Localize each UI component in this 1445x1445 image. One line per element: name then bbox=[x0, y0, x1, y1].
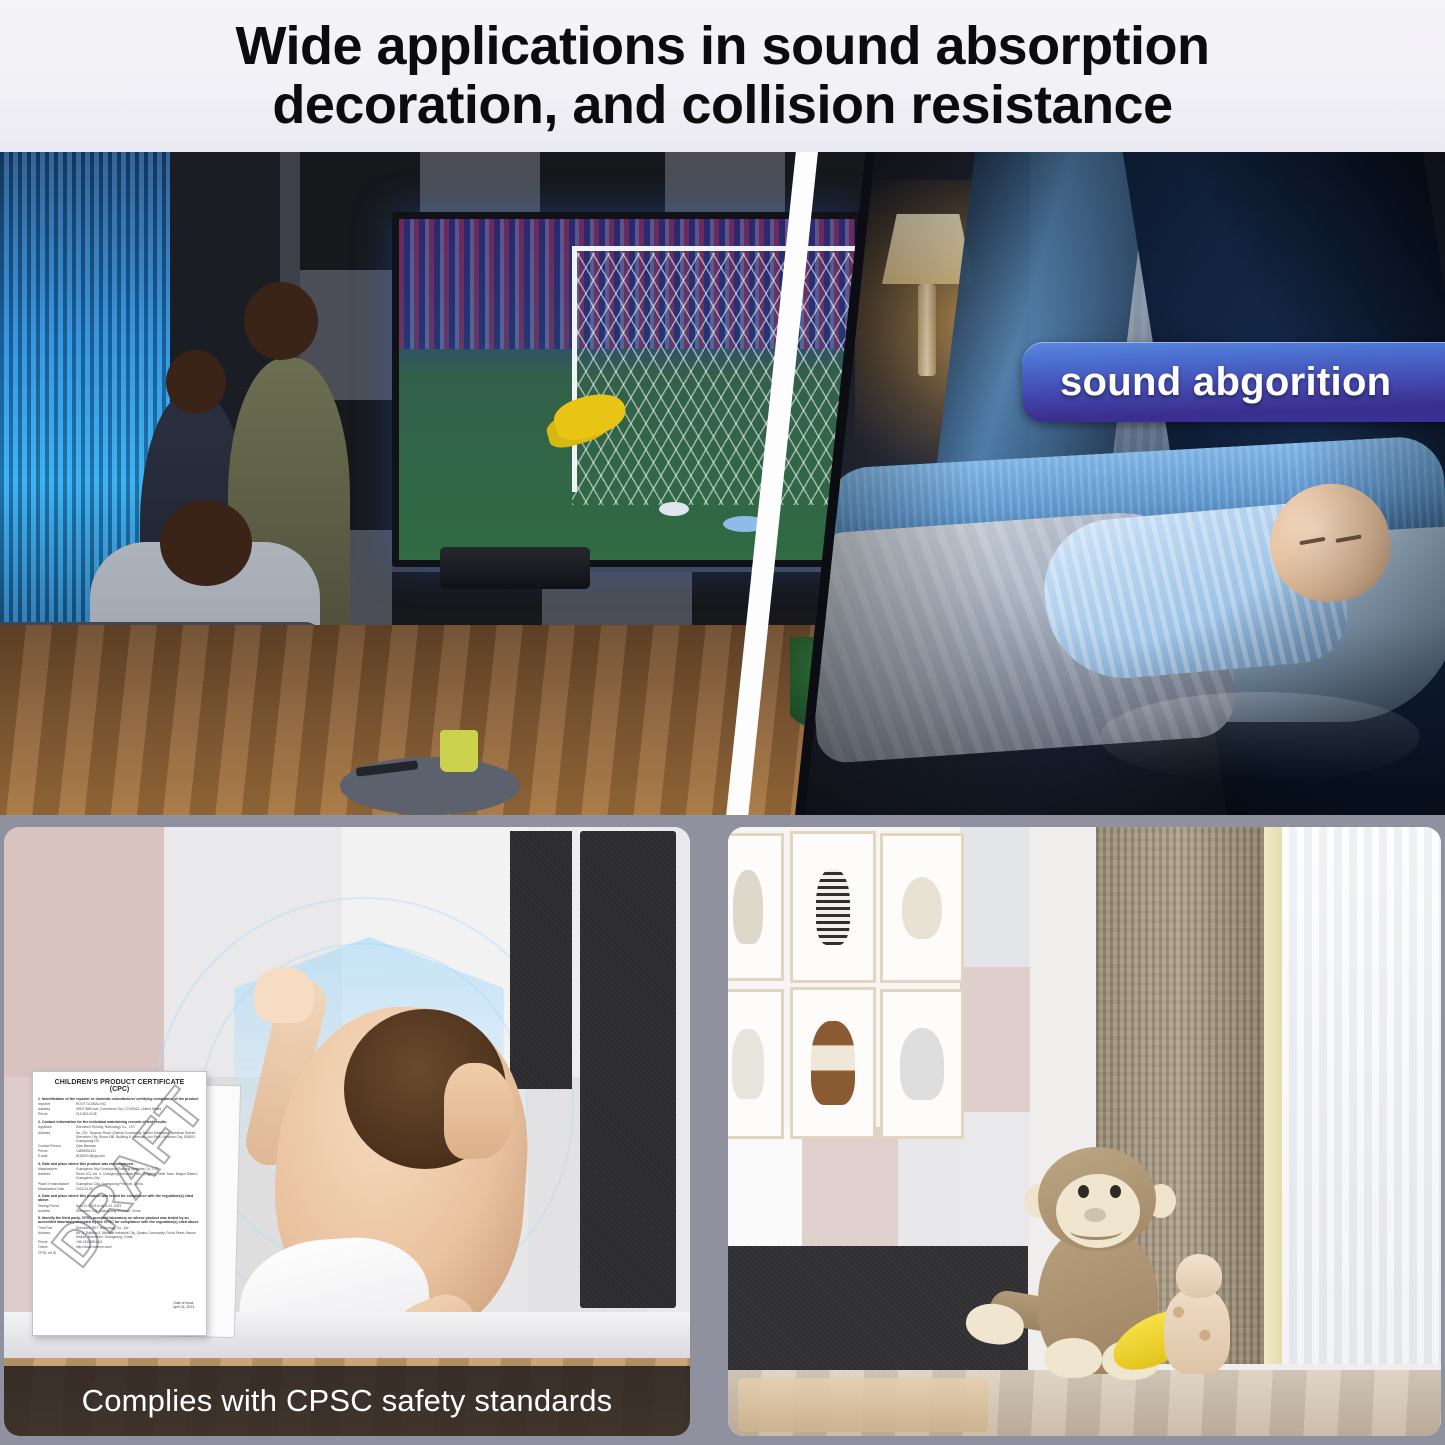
monkey-mouth bbox=[1070, 1222, 1122, 1240]
rabbit-icon bbox=[733, 870, 763, 944]
wall-tile bbox=[4, 827, 164, 1077]
baby-face bbox=[444, 1063, 514, 1159]
panel-ornament bbox=[728, 827, 1441, 1436]
page-title: Wide applications in sound absorption de… bbox=[93, 17, 1353, 136]
coffee-mug bbox=[440, 730, 478, 772]
brown-bear-icon bbox=[811, 1021, 855, 1105]
stuffed-giraffe-head bbox=[1176, 1254, 1222, 1298]
person-head bbox=[166, 350, 226, 414]
certificate-issue-date: Date of Issue April 24, 2023 bbox=[173, 1301, 194, 1309]
wall-tile bbox=[802, 1127, 898, 1247]
person-head bbox=[244, 282, 318, 360]
monkey-hand-right bbox=[1044, 1338, 1102, 1378]
badge-sound-absorption-label: sound abgorition bbox=[1060, 360, 1391, 405]
dark-acoustic-panel bbox=[580, 831, 676, 1308]
title-line-2: decoration, and collision resistance bbox=[93, 76, 1353, 135]
wall-tile bbox=[728, 1127, 802, 1247]
wall-trim bbox=[1264, 827, 1282, 1364]
title-line-1: Wide applications in sound absorption bbox=[93, 17, 1353, 76]
person-head bbox=[160, 500, 252, 586]
badge-sound-absorption[interactable]: sound abgorition bbox=[1022, 342, 1445, 422]
art-frame-elephant bbox=[880, 989, 964, 1139]
area-rug bbox=[738, 1378, 988, 1432]
dark-acoustic-panel bbox=[510, 831, 572, 1089]
nursery-scene bbox=[800, 152, 1445, 815]
product-feature-image: Wide applications in sound absorption de… bbox=[0, 0, 1445, 1445]
certificate-front-page: CHILDREN'S PRODUCT CERTIFICATE (CPC) 1. … bbox=[32, 1071, 207, 1336]
tv-player-ground bbox=[659, 502, 689, 516]
panel-nursery bbox=[800, 152, 1445, 815]
collision-proof-scene: CHILDREN'S PRODUCT CERTIFICATE (CPC) 1. … bbox=[4, 827, 690, 1436]
projector bbox=[440, 547, 590, 589]
monkey-eye-right bbox=[1110, 1185, 1121, 1198]
tv-goalpost bbox=[572, 246, 577, 492]
cpsc-caption-text: Complies with CPSC safety standards bbox=[82, 1383, 613, 1419]
wall-tile bbox=[960, 827, 1030, 967]
ornament-scene bbox=[728, 827, 1441, 1436]
art-frame-bear-white bbox=[728, 989, 784, 1139]
sheer-window-curtain bbox=[1282, 827, 1441, 1364]
monkey-nose bbox=[1084, 1208, 1106, 1222]
tv-crossbar bbox=[572, 246, 855, 251]
monkey-eye-left bbox=[1078, 1185, 1089, 1198]
top-panel-row: sound abgorition bbox=[0, 152, 1445, 815]
baby-hand bbox=[254, 967, 314, 1023]
art-frame-owl bbox=[880, 833, 964, 983]
bottom-panel-row: CHILDREN'S PRODUCT CERTIFICATE (CPC) 1. … bbox=[0, 818, 1445, 1445]
art-frame-bear-brown bbox=[790, 987, 876, 1139]
art-frame-rabbit bbox=[728, 833, 784, 981]
header-banner: Wide applications in sound absorption de… bbox=[0, 0, 1445, 152]
panel-collision-proof: CHILDREN'S PRODUCT CERTIFICATE (CPC) 1. … bbox=[4, 827, 690, 1436]
stuffed-giraffe-body bbox=[1164, 1288, 1230, 1374]
scene-vignette bbox=[800, 152, 1445, 815]
wall-tile bbox=[960, 1112, 1030, 1247]
owl-icon bbox=[902, 877, 942, 939]
bear-icon bbox=[732, 1029, 764, 1099]
art-frame-raccoon bbox=[790, 831, 876, 983]
elephant-icon bbox=[900, 1028, 944, 1100]
tv-goal-net bbox=[572, 253, 855, 505]
cpsc-caption-bar: Complies with CPSC safety standards bbox=[4, 1366, 690, 1436]
raccoon-icon bbox=[816, 869, 850, 945]
wall-tile bbox=[960, 967, 1030, 1112]
